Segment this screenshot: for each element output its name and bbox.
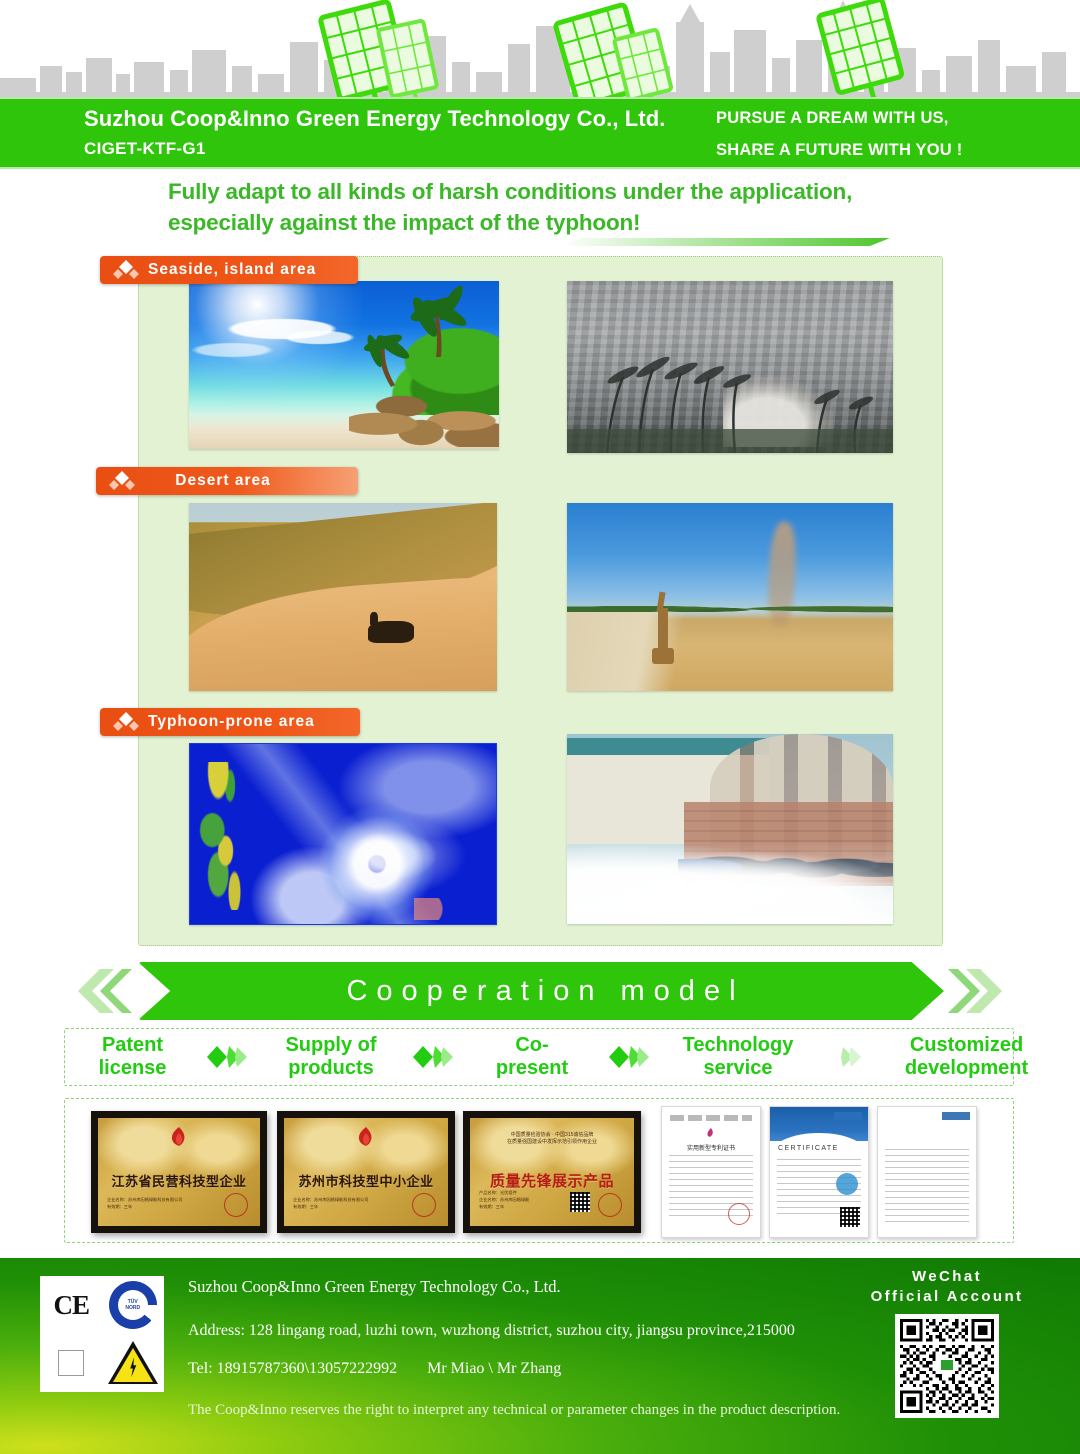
item-line-2: present xyxy=(462,1057,602,1080)
item-line-2: service xyxy=(658,1057,818,1080)
qr-code-icon xyxy=(570,1192,590,1212)
red-seal-icon xyxy=(728,1203,750,1225)
section-badge-label: Typhoon-prone area xyxy=(148,713,360,731)
compliance-marks: CE TÜVNORD xyxy=(40,1276,164,1392)
certification-mark-icon xyxy=(836,1173,858,1195)
tuv-certificate: CERTIFICATE xyxy=(769,1106,869,1238)
qr-code-icon xyxy=(900,1319,994,1413)
diamond-cluster-icon xyxy=(108,471,138,491)
tuv-nord-icon: TÜVNORD xyxy=(103,1277,164,1334)
footer-address: Address: 128 lingang road, luzhi town, w… xyxy=(188,1322,795,1340)
flower-emblem-icon xyxy=(704,1127,718,1141)
palm-trees xyxy=(189,281,499,449)
flame-logo-icon xyxy=(168,1127,190,1151)
header-bar: Suzhou Coop&Inno Green Energy Technology… xyxy=(0,97,1080,169)
dirt-road xyxy=(567,612,717,691)
test-report-certificate xyxy=(877,1106,977,1238)
cooperation-item-technology-service[interactable]: Technology service xyxy=(658,1034,818,1080)
page-headline: Fully adapt to all kinds of harsh condit… xyxy=(168,176,968,238)
diamond-chevron-separator-icon xyxy=(200,1044,256,1070)
patent-certificate: 实用新型专利证书 xyxy=(661,1106,761,1238)
certificate-title: CERTIFICATE xyxy=(778,1145,839,1152)
certificates-strip: 江苏省民营科技型企业 企业名称：苏州库因格绿能科技有限公司有效期：三年 苏州市科… xyxy=(64,1098,1014,1243)
footer-telephone: Tel: 18915787360\13057222992Mr Miao \ Mr… xyxy=(188,1360,561,1378)
cooperation-model-items: Patent license Supply of products Co- pr… xyxy=(64,1028,1014,1086)
watermark xyxy=(414,898,490,920)
plaque-title: 苏州市科技型中小企业 xyxy=(298,1171,433,1190)
award-plaque: 中国质量检验协会 · 中国315诚信品牌在质量强国建设中发挥示范引领作用企业 质… xyxy=(463,1111,641,1233)
chevron-right-icon xyxy=(948,969,1010,1013)
wechat-title-line-1: WeChat xyxy=(852,1268,1042,1285)
section-badge-seaside: Seaside, island area xyxy=(100,256,358,284)
wechat-block: WeChat Official Account xyxy=(852,1268,1042,1418)
header-slogan-line-2: SHARE A FUTURE WITH YOU ! xyxy=(716,141,962,160)
headline-line-1: Fully adapt to all kinds of harsh condit… xyxy=(168,176,968,207)
official-seal-icon xyxy=(412,1193,436,1217)
award-plaque: 江苏省民营科技型企业 企业名称：苏州库因格绿能科技有限公司有效期：三年 xyxy=(91,1111,267,1233)
item-line-1: Technology xyxy=(658,1034,818,1057)
wind-bent-palms xyxy=(567,281,893,453)
plaque-subtext: 企业名称：苏州库因格绿能科技有限公司有效期：三年 xyxy=(293,1196,368,1210)
section-badge-typhoon: Typhoon-prone area xyxy=(100,708,360,736)
ce-mark-icon: CE xyxy=(41,1277,102,1334)
wechat-qr-code[interactable] xyxy=(895,1314,999,1418)
giraffe xyxy=(658,608,668,662)
section-badge-label: Seaside, island area xyxy=(148,261,358,279)
cooperation-item-customized-development[interactable]: Customized development xyxy=(874,1034,1059,1080)
plaque-title: 质量先锋展示产品 xyxy=(490,1170,614,1191)
section-badge-desert: Desert area xyxy=(96,467,358,495)
headline-accent-rule xyxy=(560,234,890,248)
wave-splash xyxy=(567,840,893,924)
coastal-storm-photo xyxy=(567,281,893,453)
certificate-header-rule xyxy=(670,1115,752,1121)
certificate-title: 实用新型专利证书 xyxy=(662,1143,760,1152)
header-slogan-line-1: PURSUE A DREAM WITH US, xyxy=(716,109,949,128)
footer-contact-names: Mr Miao \ Mr Zhang xyxy=(427,1360,561,1377)
cooperation-item-supply-of-products[interactable]: Supply of products xyxy=(256,1034,406,1080)
flame-logo-icon xyxy=(355,1127,377,1151)
item-line-2: development xyxy=(874,1057,1059,1080)
official-seal-icon xyxy=(598,1193,622,1217)
square-class-ii-icon xyxy=(41,1335,102,1392)
typhoon-satellite-photo xyxy=(189,743,497,925)
plaque-subtext: 产品名称：光伏组件企业名称：苏州库因格绿能有效期：三年 xyxy=(479,1189,529,1210)
diamond-chevron-separator-icon xyxy=(602,1044,658,1070)
cooperation-item-co-present[interactable]: Co- present xyxy=(462,1034,602,1080)
plaque-header-text: 中国质量检验协会 · 中国315诚信品牌在质量强国建设中发挥示范引领作用企业 xyxy=(488,1132,616,1146)
award-plaque: 苏州市科技型中小企业 企业名称：苏州库因格绿能科技有限公司有效期：三年 xyxy=(277,1111,455,1233)
tuv-logo-icon xyxy=(834,1112,862,1120)
wechat-title-line-2: Official Account xyxy=(852,1288,1042,1305)
item-line-2: products xyxy=(256,1057,406,1080)
diamond-cluster-icon xyxy=(112,712,142,732)
item-line-1: Co- xyxy=(462,1034,602,1057)
item-line-2: license xyxy=(65,1057,200,1080)
official-seal-icon xyxy=(224,1193,248,1217)
electrical-hazard-icon xyxy=(103,1335,164,1392)
header-company-name: Suzhou Coop&Inno Green Energy Technology… xyxy=(84,106,665,132)
lab-logo-icon xyxy=(942,1112,970,1120)
section-badge-label: Desert area xyxy=(144,472,358,490)
footer-disclaimer: The Coop&Inno reserves the right to inte… xyxy=(188,1402,840,1419)
skyline-banner xyxy=(0,0,1080,100)
diamond-chevron-separator-icon xyxy=(406,1044,462,1070)
plaque-subtext: 企业名称：苏州库因格绿能科技有限公司有效期：三年 xyxy=(107,1196,182,1210)
qr-code-icon xyxy=(840,1207,860,1227)
sand-dune-photo xyxy=(189,503,497,691)
chevron-separator-icon xyxy=(818,1044,874,1070)
plaque-title: 江苏省民营科技型企业 xyxy=(111,1171,246,1190)
cooperation-banner: Cooperation model xyxy=(70,962,1010,1022)
cooperation-item-patent-license[interactable]: Patent license xyxy=(65,1034,200,1080)
item-line-1: Patent xyxy=(65,1034,200,1057)
tropical-beach-photo xyxy=(189,281,499,449)
camel xyxy=(368,621,414,643)
cooperation-arrow-shape: Cooperation model xyxy=(138,962,944,1020)
header-model-code: CIGET-KTF-G1 xyxy=(84,139,206,159)
footer-tel-numbers: Tel: 18915787360\13057222992 xyxy=(188,1360,397,1377)
city-skyline-illustration xyxy=(0,0,1080,100)
savanna-dust-devil-photo xyxy=(567,503,893,691)
storm-surge-photo xyxy=(567,734,893,924)
cooperation-title: Cooperation model xyxy=(337,975,744,1008)
footer-company-name: Suzhou Coop&Inno Green Energy Technology… xyxy=(188,1277,561,1297)
diamond-cluster-icon xyxy=(112,260,142,280)
chevron-left-icon xyxy=(70,969,132,1013)
item-line-1: Customized xyxy=(874,1034,1059,1057)
item-line-1: Supply of xyxy=(256,1034,406,1057)
certificate-body-lines xyxy=(885,1149,969,1223)
